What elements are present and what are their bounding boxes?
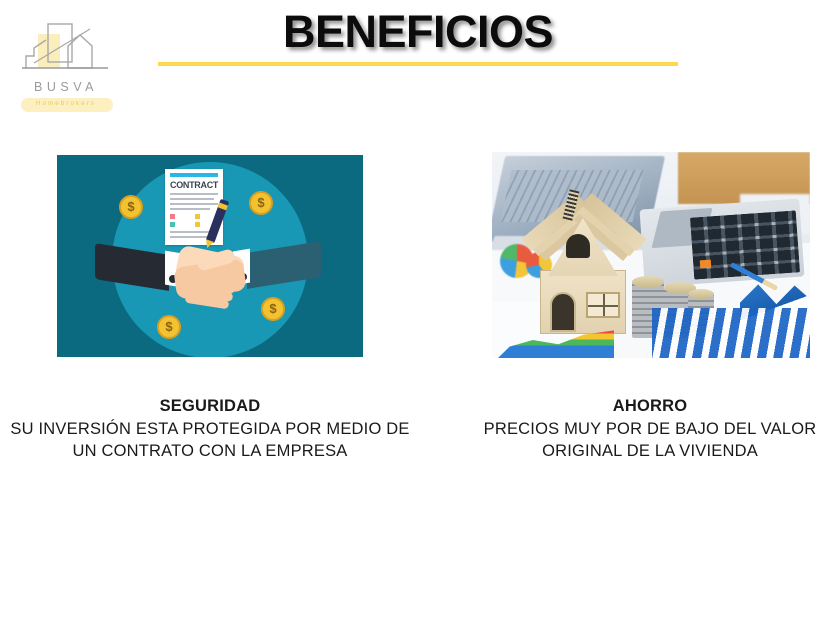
benefit-caption-ahorro: AHORRO PRECIOS MUY POR DE BAJO DEL VALOR… [462, 396, 838, 463]
contract-header-bar [170, 173, 218, 177]
slide-root: { "brand": { "logo_name": "BUSVA", "logo… [0, 0, 840, 630]
page-title: BENEFICIOS [158, 8, 678, 55]
benefit-card-seguridad: CONTRACT $ $ $ $ [57, 155, 363, 357]
dollar-coin-icon: $ [261, 297, 285, 321]
contract-label: CONTRACT [170, 180, 218, 190]
house-window [586, 292, 620, 318]
dollar-coin-icon: $ [119, 195, 143, 219]
benefit-body: PRECIOS MUY POR DE BAJO DEL VALOR ORIGIN… [462, 419, 838, 463]
benefit-card-ahorro [492, 152, 810, 358]
title-underline-rule [158, 62, 678, 66]
coin-stack-top [688, 289, 714, 299]
model-house-savings-photo [492, 152, 810, 358]
building-outline-icon [10, 18, 122, 84]
calculator-orange-key [700, 260, 712, 269]
dollar-coin-icon: $ [157, 315, 181, 339]
logo-wordmark: BUSVA [10, 80, 122, 94]
benefit-body: SU INVERSIÓN ESTA PROTEGIDA POR MEDIO DE… [10, 419, 410, 463]
bar-chart-graphic [652, 308, 810, 358]
benefit-heading: SEGURIDAD [10, 396, 410, 418]
house-door [550, 292, 576, 332]
logo-tagline: Homebrokers [10, 100, 122, 107]
house-attic-window [566, 234, 590, 258]
busva-logo[interactable]: BUSVA Homebrokers [10, 18, 122, 106]
coin-stack-top [632, 276, 664, 288]
benefit-heading: AHORRO [462, 396, 838, 418]
handshake-contract-illustration: CONTRACT $ $ $ $ [57, 155, 363, 357]
dollar-coin-icon: $ [249, 191, 273, 215]
benefit-caption-seguridad: SEGURIDAD SU INVERSIÓN ESTA PROTEGIDA PO… [10, 396, 410, 463]
